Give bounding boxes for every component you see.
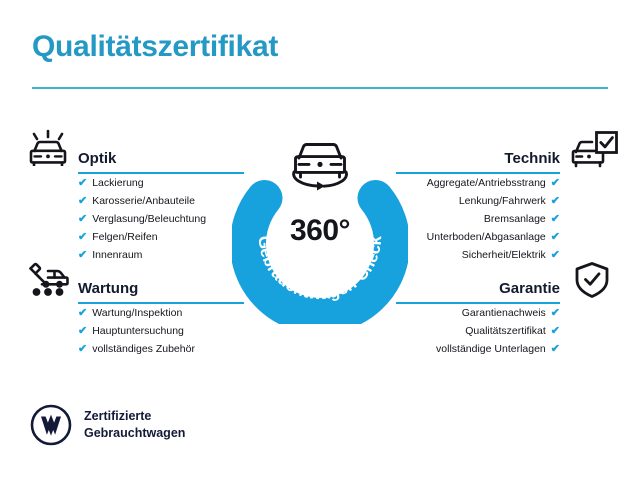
footer-line-1: Zertifizierte xyxy=(84,408,185,425)
check-icon: ✔ xyxy=(551,214,560,225)
shield-check-icon xyxy=(568,258,616,302)
list-item: ✔Lackierung xyxy=(78,174,240,192)
section-technik-list: ✔Aggregate/Antriebsstrang ✔Lenkung/Fahrw… xyxy=(400,174,560,264)
section-optik-list: ✔Lackierung ✔Karosserie/Anbauteile ✔Verg… xyxy=(78,174,240,264)
section-wartung: Wartung ✔Wartung/Inspektion ✔Hauptunters… xyxy=(24,258,240,358)
check-icon: ✔ xyxy=(551,196,560,207)
check-icon: ✔ xyxy=(551,178,560,189)
footer-text: Zertifizierte Gebrauchtwagen xyxy=(84,408,185,442)
list-item: ✔vollständige Unterlagen xyxy=(436,340,560,358)
list-item: ✔Lenkung/Fahrwerk xyxy=(459,192,560,210)
badge-degrees-label: 360° xyxy=(232,214,408,248)
section-garantie: Garantie ✔Garantienachweis ✔Qualitätszer… xyxy=(400,258,616,358)
header-divider xyxy=(32,87,608,89)
section-garantie-header: Garantie xyxy=(400,258,616,304)
check-icon: ✔ xyxy=(551,326,560,337)
list-item: ✔Wartung/Inspektion xyxy=(78,304,240,322)
check-icon: ✔ xyxy=(78,308,87,319)
section-wartung-title: Wartung xyxy=(78,280,138,297)
list-item: ✔Aggregate/Antriebsstrang xyxy=(427,174,560,192)
car-shine-icon xyxy=(24,128,72,172)
list-item: ✔Unterboden/Abgasanlage xyxy=(427,228,560,246)
check-icon: ✔ xyxy=(78,344,87,355)
check-icon: ✔ xyxy=(78,178,87,189)
vw-logo-icon xyxy=(30,404,72,446)
car-checkbox-icon xyxy=(568,128,616,172)
list-item: ✔Felgen/Reifen xyxy=(78,228,240,246)
page-title: Qualitätszertifikat xyxy=(32,30,278,64)
list-item-label: Garantienachweis xyxy=(462,308,546,319)
section-optik-divider xyxy=(78,172,244,174)
list-item: ✔Hauptuntersuchung xyxy=(78,322,240,340)
badge-360-gebrauchtwagen-check: Gebrauchtwagen-Check xyxy=(232,128,408,324)
check-icon: ✔ xyxy=(78,214,87,225)
quality-certificate-page: Qualitätszertifikat xyxy=(0,0,640,480)
section-optik-title: Optik xyxy=(78,150,116,167)
section-garantie-title: Garantie xyxy=(499,280,560,297)
list-item-label: Wartung/Inspektion xyxy=(92,308,182,319)
list-item-label: Karosserie/Anbauteile xyxy=(92,196,195,207)
list-item: ✔Qualitätszertifikat xyxy=(465,322,560,340)
section-wartung-divider xyxy=(78,302,244,304)
section-technik-header: Technik xyxy=(400,128,616,174)
check-icon: ✔ xyxy=(551,308,560,319)
check-icon: ✔ xyxy=(78,196,87,207)
list-item-label: Hauptuntersuchung xyxy=(92,326,184,337)
section-optik-header: Optik xyxy=(24,128,240,174)
list-item: ✔vollständiges Zubehör xyxy=(78,340,240,358)
car-lift-icon xyxy=(24,258,72,302)
footer-branding: Zertifizierte Gebrauchtwagen xyxy=(30,404,185,446)
footer-line-2: Gebrauchtwagen xyxy=(84,425,185,442)
section-wartung-list: ✔Wartung/Inspektion ✔Hauptuntersuchung ✔… xyxy=(78,304,240,358)
check-icon: ✔ xyxy=(551,232,560,243)
list-item-label: vollständige Unterlagen xyxy=(436,344,546,355)
list-item-label: Aggregate/Antriebsstrang xyxy=(427,178,546,189)
list-item-label: Lackierung xyxy=(92,178,143,189)
list-item: ✔Garantienachweis xyxy=(462,304,560,322)
check-icon: ✔ xyxy=(78,232,87,243)
list-item: ✔Verglasung/Beleuchtung xyxy=(78,210,240,228)
list-item: ✔Bremsanlage xyxy=(484,210,560,228)
section-technik: Technik ✔Aggregate/Antriebsstrang ✔Lenku… xyxy=(400,128,616,264)
list-item-label: Unterboden/Abgasanlage xyxy=(427,232,546,243)
check-icon: ✔ xyxy=(551,344,560,355)
section-garantie-divider xyxy=(396,302,560,304)
section-wartung-header: Wartung xyxy=(24,258,240,304)
list-item-label: Lenkung/Fahrwerk xyxy=(459,196,546,207)
list-item-label: Felgen/Reifen xyxy=(92,232,157,243)
section-optik: Optik ✔Lackierung ✔Karosserie/Anbauteile… xyxy=(24,128,240,264)
list-item-label: Qualitätszertifikat xyxy=(465,326,546,337)
list-item-label: Bremsanlage xyxy=(484,214,546,225)
check-icon: ✔ xyxy=(78,326,87,337)
section-technik-divider xyxy=(396,172,560,174)
section-garantie-list: ✔Garantienachweis ✔Qualitätszertifikat ✔… xyxy=(400,304,560,358)
list-item-label: Verglasung/Beleuchtung xyxy=(92,214,206,225)
list-item-label: vollständiges Zubehör xyxy=(92,344,195,355)
list-item: ✔Karosserie/Anbauteile xyxy=(78,192,240,210)
section-technik-title: Technik xyxy=(504,150,560,167)
